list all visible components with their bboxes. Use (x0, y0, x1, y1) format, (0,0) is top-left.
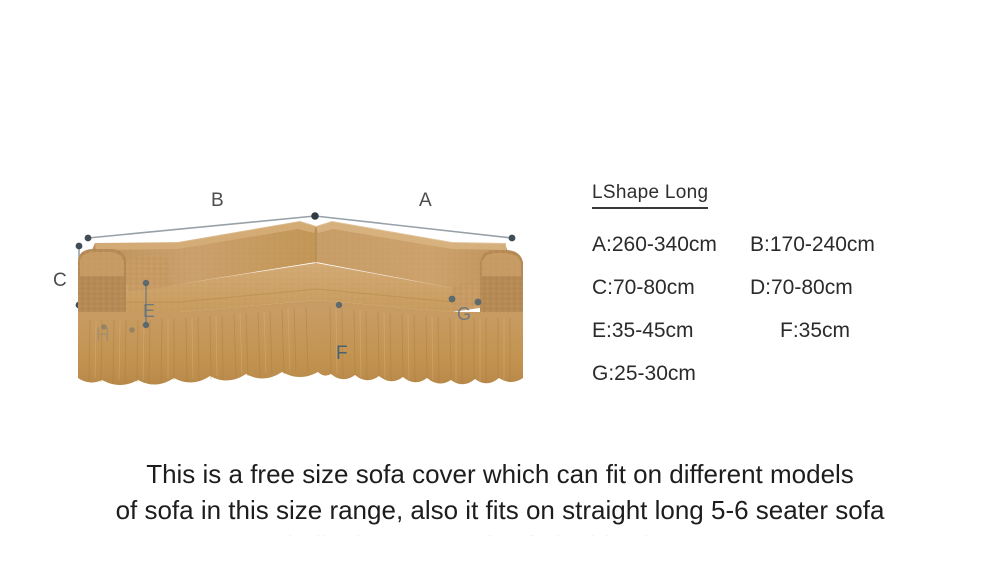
description-line-1: This is a free size sofa cover which can… (0, 456, 1000, 492)
spec-value-a: A:260-340cm (592, 233, 750, 257)
spec-row: A:260-340cm B:170-240cm (592, 233, 992, 257)
dimension-label-e: E (143, 302, 155, 320)
dimension-label-f: F (336, 344, 348, 363)
spec-value-empty (750, 362, 950, 386)
spec-value-d: D:70-80cm (750, 276, 950, 300)
product-detail-image: B A C E F G H LShape Long A:260-340cm B:… (0, 0, 1000, 570)
spec-row: E:35-45cm F:35cm (592, 319, 992, 343)
arm-left-roll (80, 252, 124, 276)
spec-title: LShape Long (592, 182, 708, 203)
dimension-label-b: B (211, 191, 224, 210)
spec-value-c: C:70-80cm (592, 276, 750, 300)
description-line-3-clipped: and all other types of sofa in this size… (0, 528, 1000, 536)
specification-panel: LShape Long A:260-340cm B:170-240cm C:70… (592, 182, 992, 405)
spec-value-b: B:170-240cm (750, 233, 950, 257)
dimension-label-g: G (457, 305, 471, 323)
arm-left-inner (126, 256, 172, 292)
spec-value-g: G:25-30cm (592, 362, 750, 386)
dimension-marker-f (336, 302, 342, 308)
dimension-label-a: A (419, 191, 432, 210)
spec-row: C:70-80cm D:70-80cm (592, 276, 992, 300)
sofa-illustration: B A C E F G H (0, 0, 560, 440)
spec-value-e: E:35-45cm (592, 319, 750, 343)
description-block: This is a free size sofa cover which can… (0, 456, 1000, 536)
dimension-label-h: H (96, 326, 110, 345)
dimension-label-c: C (53, 271, 67, 290)
sofa-diagram-svg (0, 0, 560, 440)
arm-right-roll (482, 253, 521, 276)
spec-title-underline: LShape Long (592, 182, 708, 209)
description-line-2: of sofa in this size range, also it fits… (0, 492, 1000, 528)
spec-value-f: F:35cm (750, 319, 980, 343)
spec-row: G:25-30cm (592, 362, 992, 386)
